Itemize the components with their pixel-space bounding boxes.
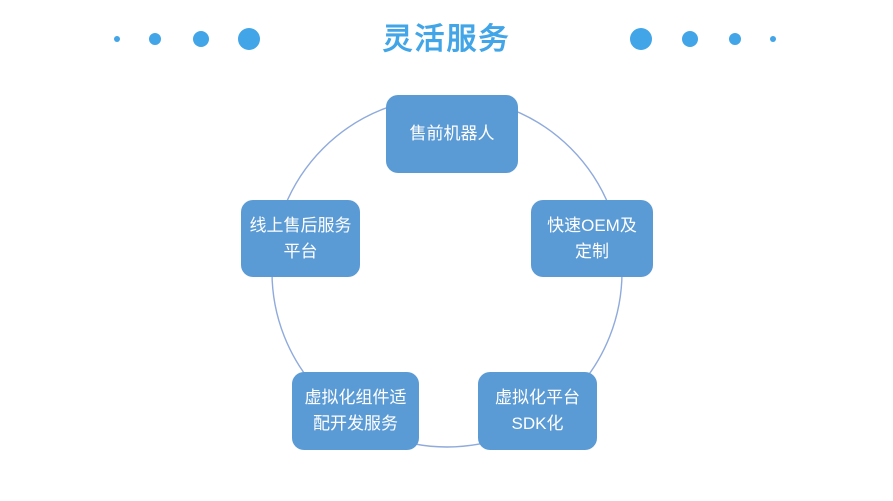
node-online-aftersales[interactable]: 线上售后服务 平台 <box>241 200 360 277</box>
decor-dot-left-4 <box>238 28 260 50</box>
node-fast-oem-customize[interactable]: 快速OEM及 定制 <box>531 200 653 277</box>
node-virtualization-sdk[interactable]: 虚拟化平台 SDK化 <box>478 372 597 450</box>
decor-dot-left-1 <box>114 36 120 42</box>
decor-dot-right-2 <box>682 31 698 47</box>
node-virtualization-adapt[interactable]: 虚拟化组件适 配开发服务 <box>292 372 419 450</box>
decor-dot-left-3 <box>193 31 209 47</box>
node-label: 虚拟化组件适 配开发服务 <box>305 385 407 437</box>
cycle-ring <box>0 0 893 501</box>
node-label: 售前机器人 <box>410 121 495 147</box>
decor-dot-left-2 <box>149 33 161 45</box>
page-title: 灵活服务 <box>0 20 893 60</box>
node-label: 快速OEM及 定制 <box>547 213 637 265</box>
node-presales-robot[interactable]: 售前机器人 <box>386 95 518 173</box>
node-label: 线上售后服务 平台 <box>250 213 352 265</box>
slide-canvas: 灵活服务 售前机器人 快速OEM及 定制 虚拟化平台 SDK化 虚拟化组件适 配… <box>0 0 893 501</box>
node-label: 虚拟化平台 SDK化 <box>495 385 580 437</box>
decor-dot-right-4 <box>770 36 776 42</box>
decor-dot-right-3 <box>729 33 741 45</box>
decor-dot-right-1 <box>630 28 652 50</box>
